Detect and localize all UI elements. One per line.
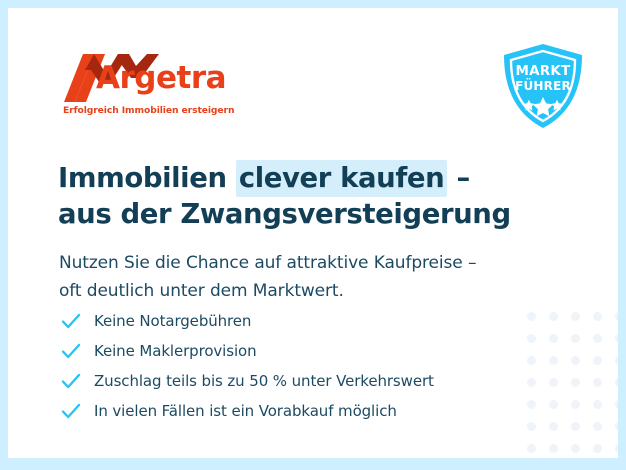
market-leader-badge: MARKT FÜHRER — [500, 42, 586, 130]
benefits-list: Keine Notargebühren Keine Maklerprovisio… — [60, 306, 530, 426]
headline-line1-pre: Immobilien — [58, 162, 236, 194]
dot-grid-decoration — [520, 305, 618, 458]
check-icon — [60, 370, 82, 392]
dot — [615, 400, 619, 409]
dot — [571, 334, 580, 343]
dot — [615, 334, 619, 343]
page-title: Immobilien clever kaufen – aus der Zwang… — [58, 160, 578, 232]
logo-tagline: Erfolgreich Immobilien ersteigern — [63, 105, 234, 116]
dot — [615, 422, 619, 431]
dot — [593, 444, 602, 453]
dot — [549, 378, 558, 387]
dot — [549, 334, 558, 343]
list-item: In vielen Fällen ist ein Vorabkauf mögli… — [60, 396, 530, 426]
dot — [615, 356, 619, 365]
dot — [549, 444, 558, 453]
dot — [593, 400, 602, 409]
list-item: Keine Maklerprovision — [60, 336, 530, 366]
dot — [593, 356, 602, 365]
dot — [571, 400, 580, 409]
list-item-label: Keine Notargebühren — [94, 312, 251, 330]
dot — [571, 444, 580, 453]
promo-banner: Argetra Erfolgreich Immobilien ersteiger… — [0, 0, 626, 470]
banner-card: Argetra Erfolgreich Immobilien ersteiger… — [8, 8, 618, 458]
dot — [549, 422, 558, 431]
dot — [593, 334, 602, 343]
badge-line-1: MARKT — [500, 65, 586, 79]
subheadline: Nutzen Sie die Chance auf attraktive Kau… — [59, 249, 559, 305]
headline-line2: aus der Zwangsversteigerung — [58, 196, 578, 232]
dot — [527, 444, 536, 453]
logo-wordmark: Argetra — [96, 63, 226, 94]
headline-highlight: clever kaufen — [236, 160, 448, 197]
dot — [615, 378, 619, 387]
list-item-label: Zuschlag teils bis zu 50 % unter Verkehr… — [94, 372, 434, 390]
dot — [571, 356, 580, 365]
list-item-label: Keine Maklerprovision — [94, 342, 257, 360]
list-item: Keine Notargebühren — [60, 306, 530, 336]
dot — [549, 400, 558, 409]
check-icon — [60, 400, 82, 422]
list-item-label: In vielen Fällen ist ein Vorabkauf mögli… — [94, 402, 397, 420]
dot — [593, 378, 602, 387]
dot — [549, 312, 558, 321]
dot — [571, 422, 580, 431]
list-item: Zuschlag teils bis zu 50 % unter Verkehr… — [60, 366, 530, 396]
dot — [571, 312, 580, 321]
check-icon — [60, 340, 82, 362]
subheadline-line1: Nutzen Sie die Chance auf attraktive Kau… — [59, 253, 476, 273]
dot — [615, 444, 619, 453]
argetra-logo[interactable]: Argetra Erfolgreich Immobilien ersteiger… — [61, 52, 221, 120]
headline-line1-post: – — [447, 162, 470, 194]
dot — [593, 312, 602, 321]
dot — [593, 422, 602, 431]
dot — [549, 356, 558, 365]
dot — [571, 378, 580, 387]
check-icon — [60, 310, 82, 332]
badge-line-2: FÜHRER — [500, 80, 586, 92]
subheadline-line2: oft deutlich unter dem Marktwert. — [59, 281, 344, 301]
dot — [615, 312, 619, 321]
